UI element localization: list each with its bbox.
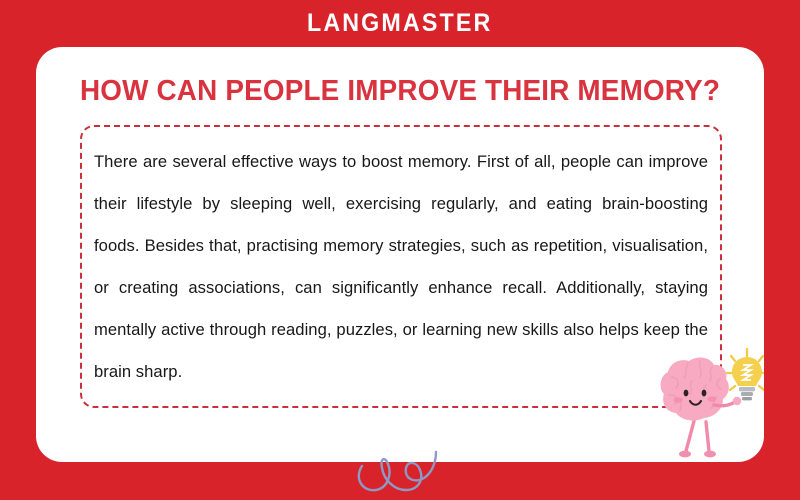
brain-foot-right [704, 451, 716, 458]
brain-hand [733, 397, 741, 405]
brain-foot-left [679, 451, 691, 458]
lightbulb-rays [727, 349, 764, 390]
brain-legs [686, 421, 709, 451]
lightbulb-base-top [739, 387, 755, 391]
passage-box: There are several effective ways to boos… [80, 125, 722, 408]
langmaster-logo: LANGMASTER [307, 11, 492, 36]
page-title: HOW CAN PEOPLE IMPROVE THEIR MEMORY? [51, 75, 750, 107]
brand-bar: LANGMASTER [0, 0, 800, 47]
lightbulb-filament [743, 365, 751, 380]
lightbulb-glass [732, 357, 762, 386]
content-card: HOW CAN PEOPLE IMPROVE THEIR MEMORY? The… [36, 47, 764, 462]
lightbulb-base-bottom [742, 397, 752, 400]
passage-text: There are several effective ways to boos… [94, 141, 708, 393]
lightbulb-icon [727, 349, 764, 400]
lightbulb-base-mid [741, 392, 753, 396]
